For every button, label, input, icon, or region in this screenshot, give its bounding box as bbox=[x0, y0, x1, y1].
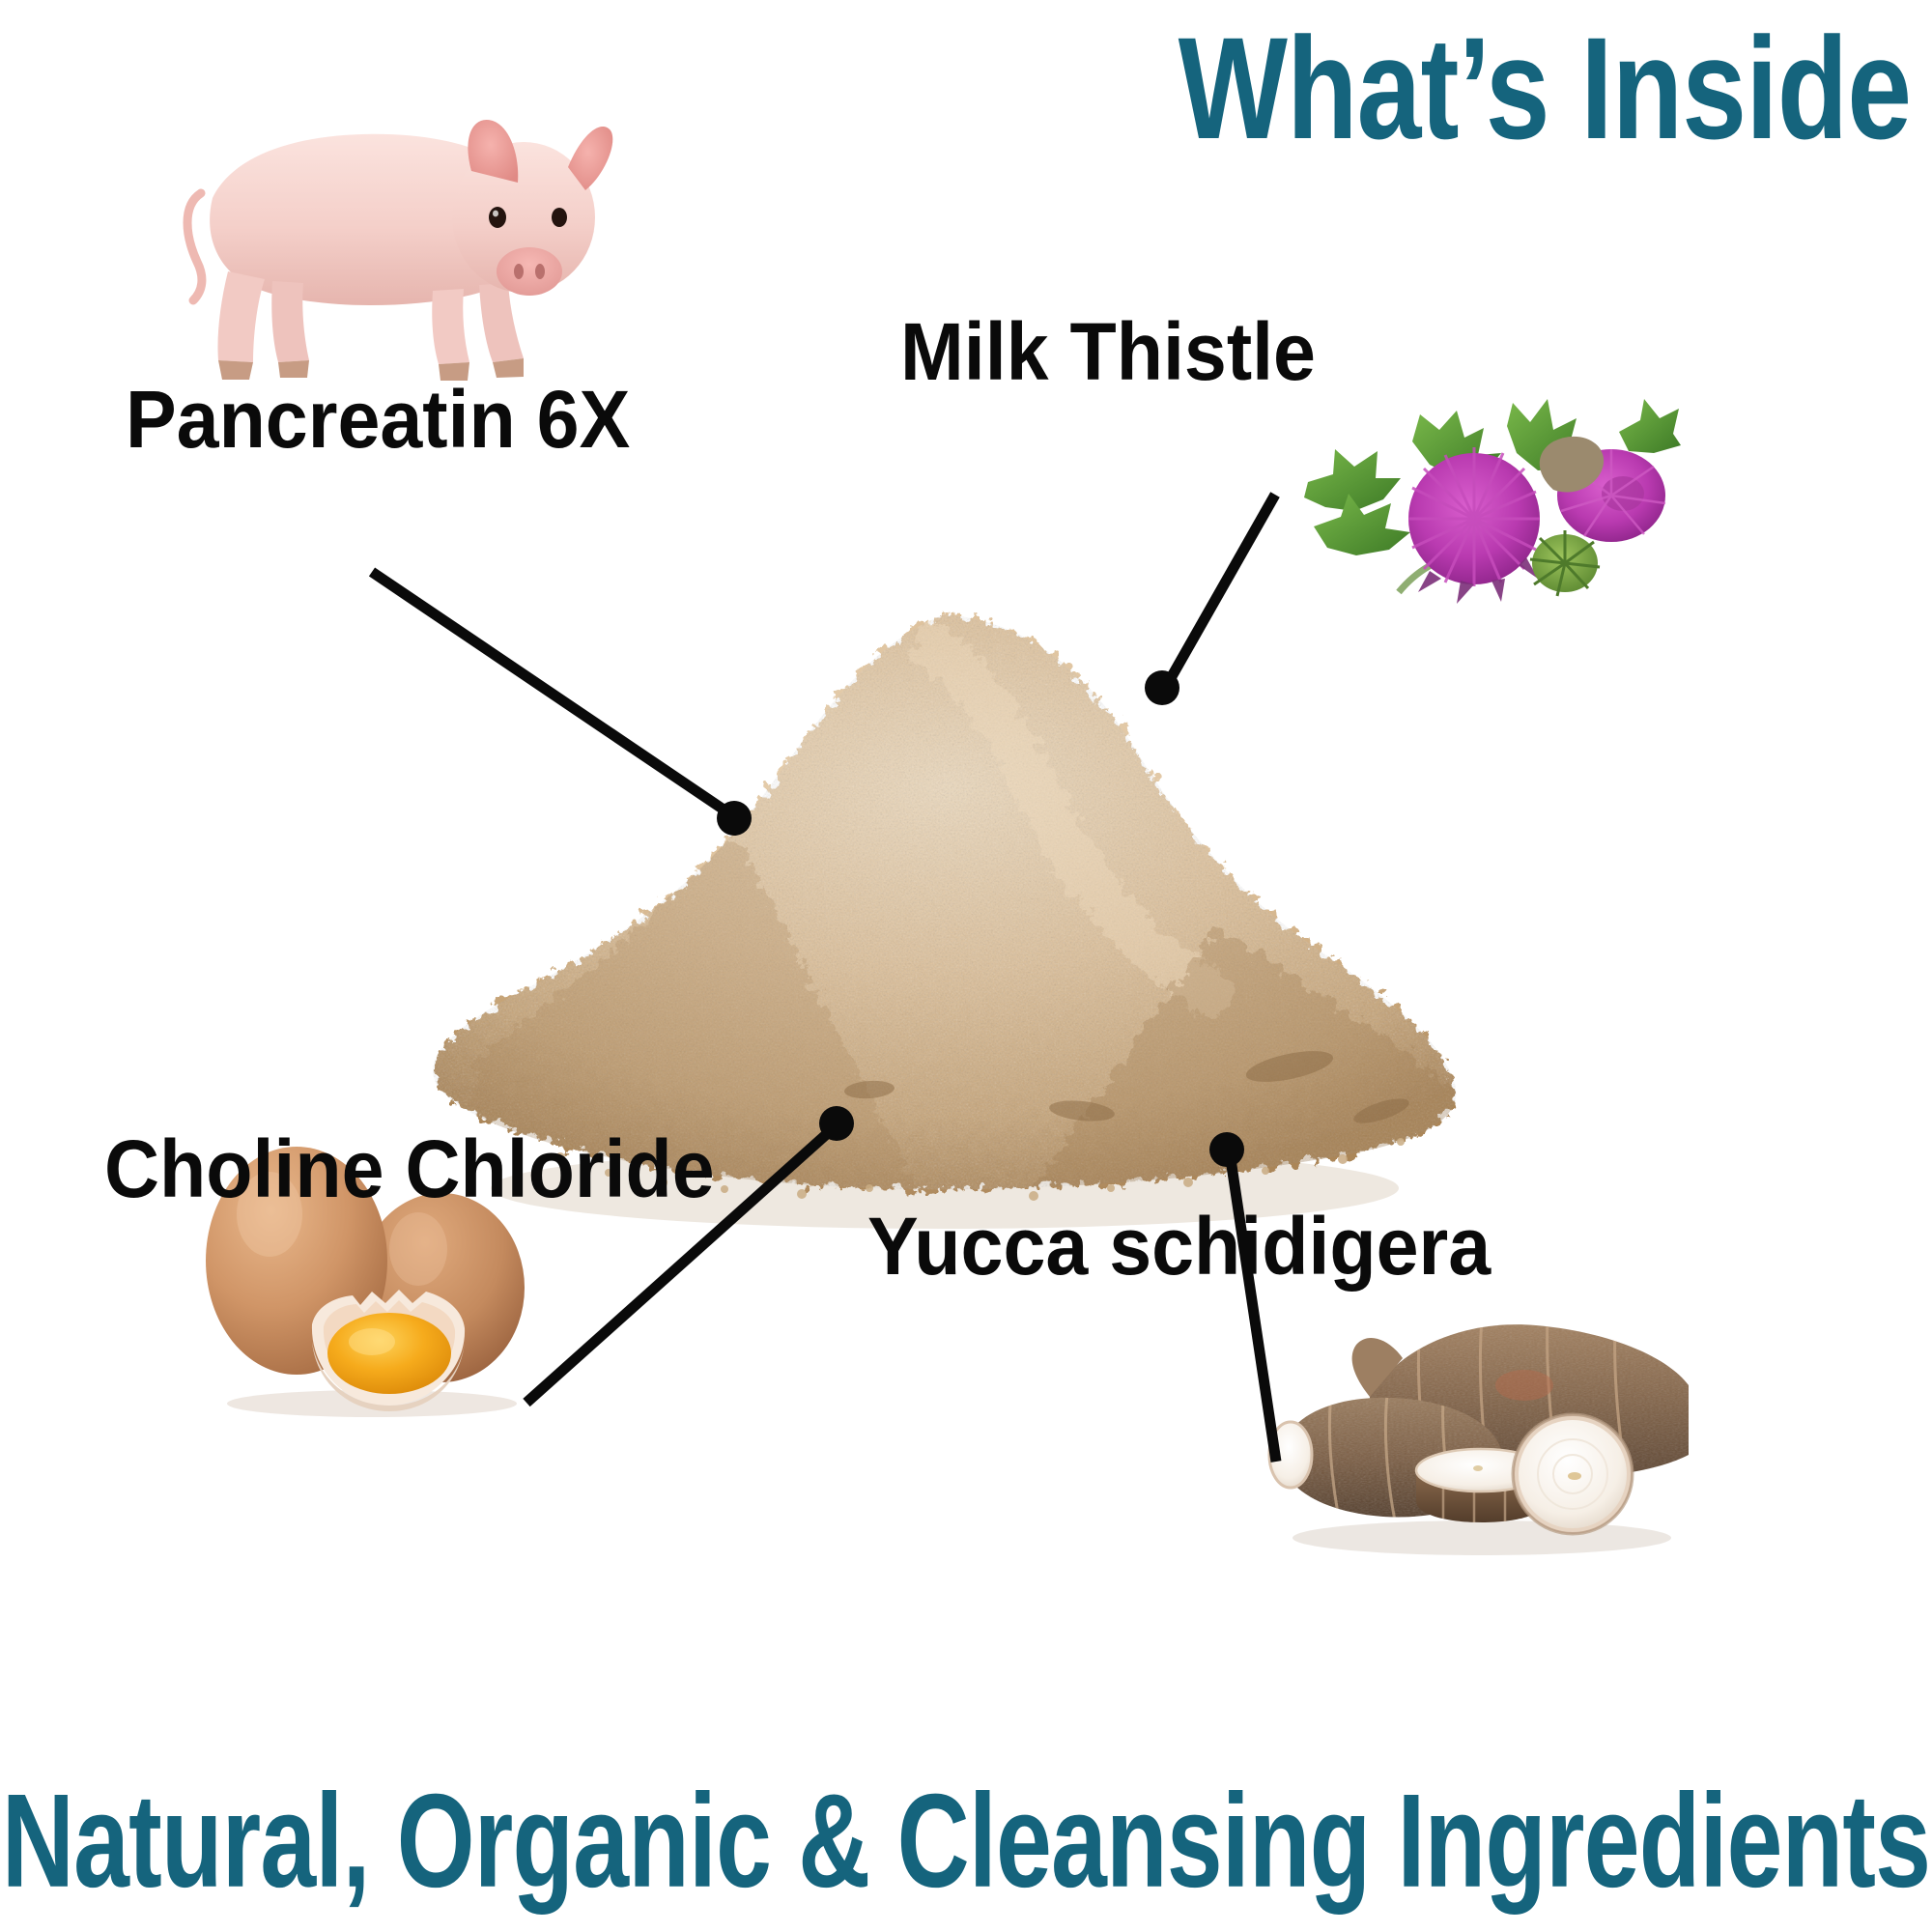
yucca-roots-photo bbox=[1275, 1285, 1690, 1575]
footer-tagline: Natural, Organic & Cleansing Ingredients bbox=[2, 1774, 1930, 1907]
piglet-photo bbox=[164, 82, 618, 386]
callout-label-choline-chloride: Choline Chloride bbox=[104, 1128, 715, 1209]
milk-thistle-photo bbox=[1294, 382, 1681, 613]
page-title: What’s Inside bbox=[1178, 15, 1911, 160]
callout-label-pancreatin: Pancreatin 6X bbox=[126, 379, 630, 460]
callout-label-milk-thistle: Milk Thistle bbox=[900, 311, 1316, 392]
callout-label-yucca-schidigera: Yucca schidigera bbox=[867, 1206, 1491, 1287]
infographic-canvas: What’s Inside bbox=[0, 0, 1932, 1932]
